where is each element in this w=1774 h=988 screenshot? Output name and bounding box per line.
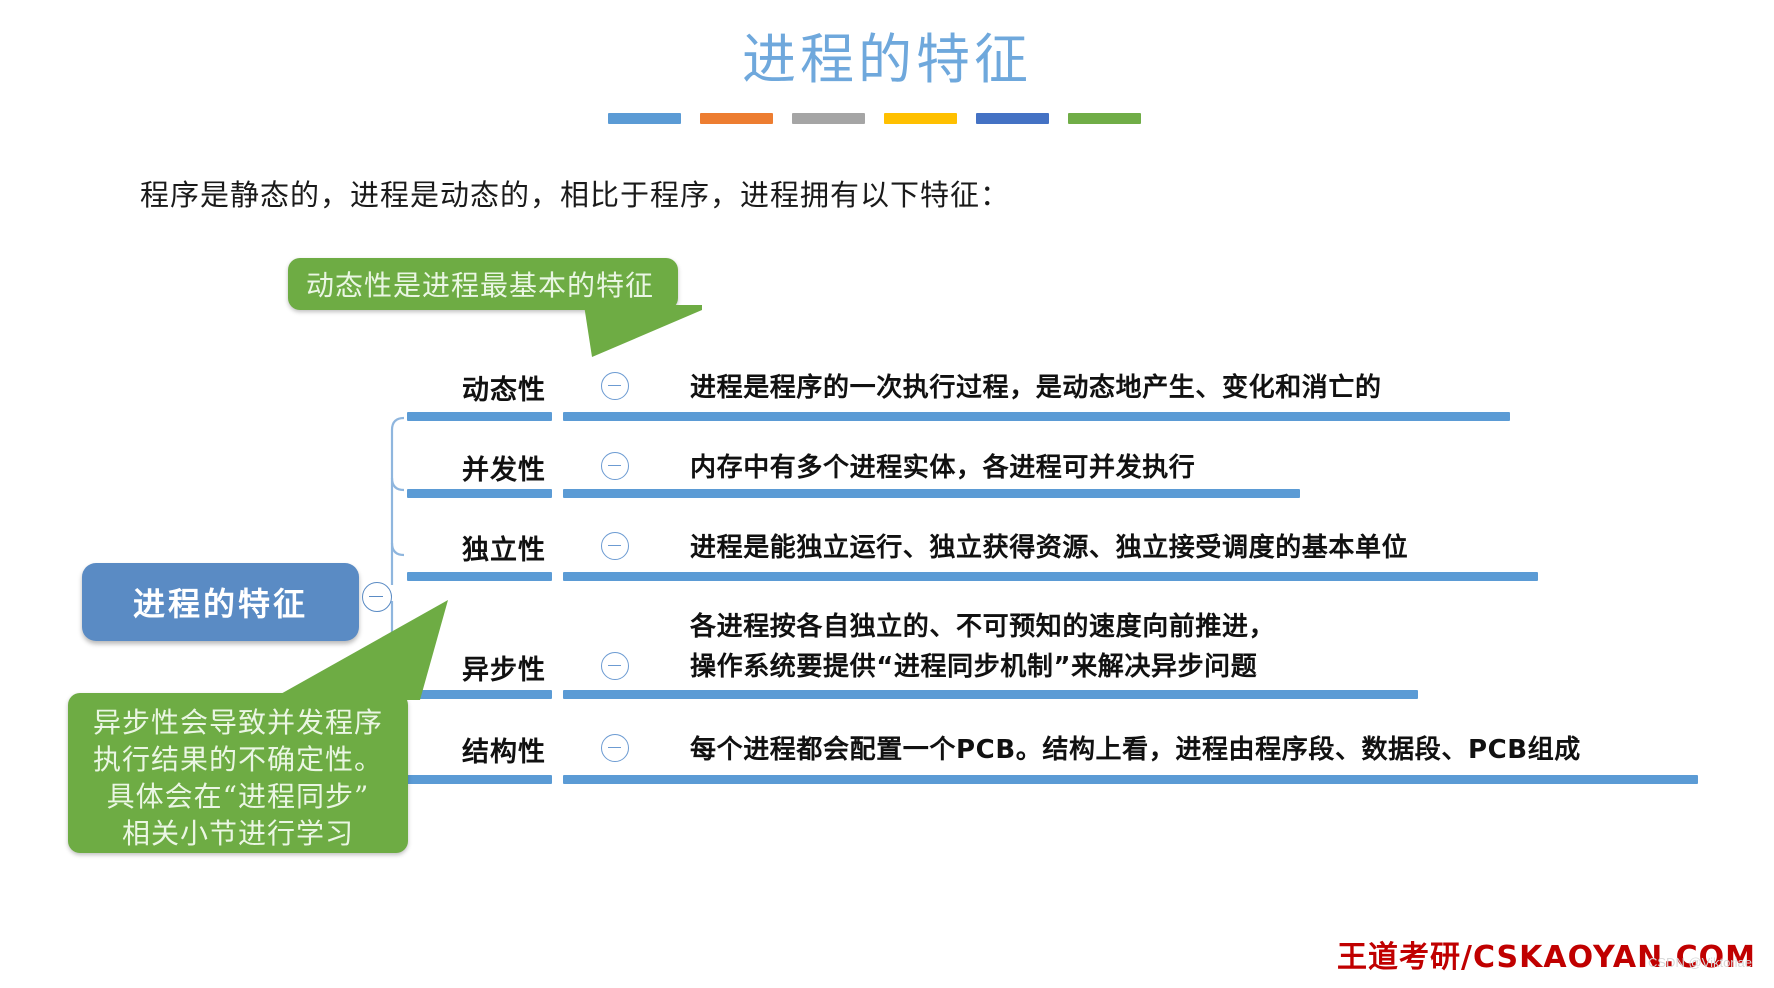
watermark-text: CSDN @Viktoriae <box>1648 955 1752 970</box>
callout-dynamic-note: 动态性是进程最基本的特征 <box>288 258 678 310</box>
branch-underline-1a <box>407 412 552 421</box>
callout-async-note: 异步性会导致并发程序 执行结果的不确定性。 具体会在“进程同步” 相关小节进行学… <box>68 693 408 853</box>
branch-label-4: 异步性 <box>462 648 582 687</box>
branch-label-1: 动态性 <box>462 368 582 407</box>
branch-underline-2a <box>407 489 552 498</box>
minus-circle-icon-3[interactable] <box>601 532 629 560</box>
callout-async-note-line4: 相关小节进行学习 <box>86 816 390 853</box>
minus-circle-icon-1[interactable] <box>601 372 629 400</box>
branch-label-3: 独立性 <box>462 528 582 567</box>
branch-underline-4b <box>563 690 1418 699</box>
callout-async-note-line2: 执行结果的不确定性。 <box>86 742 390 779</box>
minus-circle-icon-2[interactable] <box>601 452 629 480</box>
branch-underline-3a <box>407 572 552 581</box>
callout-dynamic-note-tail <box>584 305 714 363</box>
callout-async-note-line3: 具体会在“进程同步” <box>86 779 390 816</box>
minus-circle-icon-4[interactable] <box>601 652 629 680</box>
branch-underline-3b <box>563 572 1538 581</box>
branch-text-4-line2: 操作系统要提供“进程同步机制”来解决异步问题 <box>690 648 1257 687</box>
branch-text-2: 内存中有多个进程实体，各进程可并发执行 <box>690 449 1195 488</box>
branch-text-1: 进程是程序的一次执行过程，是动态地产生、变化和消亡的 <box>690 369 1382 408</box>
callout-dynamic-note-text: 动态性是进程最基本的特征 <box>306 264 654 304</box>
branch-underline-2b <box>563 489 1300 498</box>
branch-label-5: 结构性 <box>462 730 582 769</box>
minus-circle-icon-5[interactable] <box>601 734 629 762</box>
callout-async-note-tail <box>270 600 450 705</box>
callout-async-note-line1: 异步性会导致并发程序 <box>86 705 390 742</box>
branch-underline-5b <box>563 775 1698 784</box>
branch-underline-5a <box>407 775 552 784</box>
slide-canvas: 进程的特征 程序是静态的，进程是动态的，相比于程序，进程拥有以下特征： 进程的特… <box>0 0 1774 988</box>
branch-underline-1b <box>563 412 1510 421</box>
branch-text-4-line1: 各进程按各自独立的、不可预知的速度向前推进， <box>690 608 1275 647</box>
branch-text-5: 每个进程都会配置一个PCB。结构上看，进程由程序段、数据段、PCB组成 <box>690 731 1581 770</box>
branch-label-2: 并发性 <box>462 448 582 487</box>
branch-text-3: 进程是能独立运行、独立获得资源、独立接受调度的基本单位 <box>690 529 1408 568</box>
